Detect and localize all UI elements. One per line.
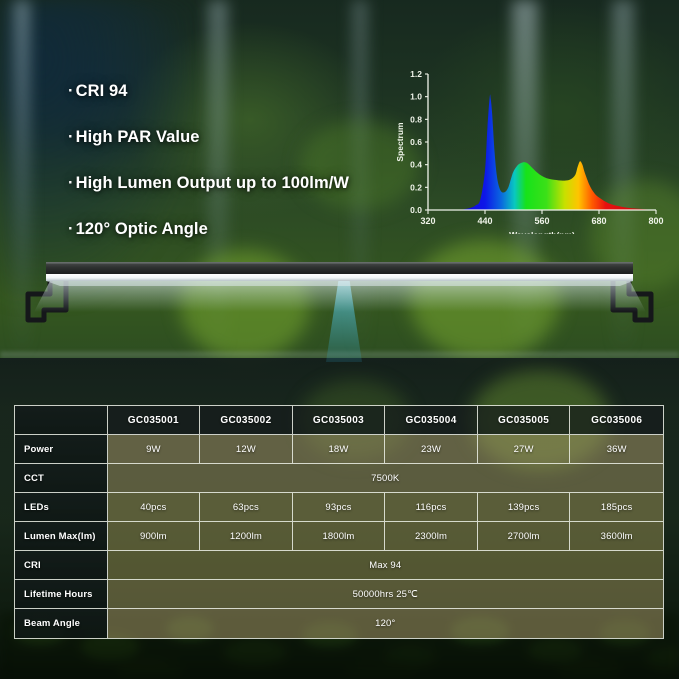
x-axis-title: Wavelength(nm) [509, 230, 575, 234]
spectrum-chart-svg: 0.00.20.40.60.81.01.2320440560680800Wave… [392, 62, 664, 234]
table-column-header: GC035005 [478, 406, 571, 435]
table-merged-cell: Max 94 [108, 551, 663, 580]
feature-bullet-text: High Lumen Output up to 100lm/W [76, 174, 350, 192]
table-cell: 27W [478, 435, 571, 464]
feature-bullet-item: ·CRI 94 [68, 82, 388, 101]
spectrum-chart: 0.00.20.40.60.81.01.2320440560680800Wave… [392, 62, 664, 234]
table-cell: 12W [200, 435, 293, 464]
table-merged-cell: 7500K [108, 464, 663, 493]
table-cell: 18W [293, 435, 386, 464]
table-column-header: GC035004 [385, 406, 478, 435]
table-row-label: LEDs [15, 493, 108, 522]
bullet-marker-icon: · [68, 82, 74, 100]
x-axis-tick-label: 320 [420, 216, 435, 226]
table-row-label: Power [15, 435, 108, 464]
table-cell: 1200lm [200, 522, 293, 551]
table-cell: 3600lm [570, 522, 663, 551]
y-axis-tick-label: 0.2 [410, 182, 422, 192]
x-axis-tick-label: 680 [591, 216, 606, 226]
spectrum-curve [428, 94, 656, 210]
product-infographic: ·CRI 94 ·High PAR Value ·High Lumen Outp… [0, 0, 679, 679]
bullet-marker-icon: · [68, 220, 74, 238]
y-axis-tick-label: 1.2 [410, 69, 422, 79]
table-row: CRIMax 94 [15, 551, 663, 580]
feature-bullet-item: ·120° Optic Angle [68, 220, 388, 239]
table-row: Beam Angle120° [15, 609, 663, 638]
feature-bullet-list: ·CRI 94 ·High PAR Value ·High Lumen Outp… [68, 82, 388, 266]
table-cell: 139pcs [478, 493, 571, 522]
table-cell: 2300lm [385, 522, 478, 551]
feature-bullet-item: ·High Lumen Output up to 100lm/W [68, 174, 388, 193]
table-column-header: GC035001 [108, 406, 201, 435]
x-axis-tick-label: 800 [648, 216, 663, 226]
table-row-label: Beam Angle [15, 609, 108, 638]
table-row: Power9W12W18W23W27W36W [15, 435, 663, 464]
fixture-diffuser [46, 274, 633, 281]
table-row: Lifetime Hours50000hrs 25℃ [15, 580, 663, 609]
y-axis-tick-label: 0.8 [410, 114, 422, 124]
table-header-row: GC035001GC035002GC035003GC035004GC035005… [15, 406, 663, 435]
table-merged-cell: 50000hrs 25℃ [108, 580, 663, 609]
table-cell: 36W [570, 435, 663, 464]
x-axis-tick-label: 560 [534, 216, 549, 226]
table-row: Lumen Max(lm)900lm1200lm1800lm2300lm2700… [15, 522, 663, 551]
x-axis-tick-label: 440 [477, 216, 492, 226]
feature-bullet-text: 120° Optic Angle [76, 220, 208, 238]
bullet-marker-icon: · [68, 174, 74, 192]
table-cell: 900lm [108, 522, 201, 551]
y-axis-tick-label: 1.0 [410, 92, 422, 102]
feature-bullet-text: High PAR Value [76, 128, 200, 146]
table-row-label: Lifetime Hours [15, 580, 108, 609]
specifications-table: GC035001GC035002GC035003GC035004GC035005… [14, 405, 664, 639]
table-column-header: GC035006 [570, 406, 663, 435]
y-axis-title: Spectrum [395, 122, 405, 162]
table-cell: 2700lm [478, 522, 571, 551]
table-row: LEDs40pcs63pcs93pcs116pcs139pcs185pcs [15, 493, 663, 522]
table-row-label: Lumen Max(lm) [15, 522, 108, 551]
feature-bullet-item: ·High PAR Value [68, 128, 388, 147]
bullet-marker-icon: · [68, 128, 74, 146]
y-axis-tick-label: 0.4 [410, 160, 422, 170]
y-axis-tick-label: 0.6 [410, 137, 422, 147]
fixture-glow [34, 281, 646, 312]
table-corner-cell [15, 406, 108, 435]
led-grow-light-fixture [0, 250, 679, 365]
table-cell: 9W [108, 435, 201, 464]
table-cell: 185pcs [570, 493, 663, 522]
table-column-header: GC035003 [293, 406, 386, 435]
table-cell: 116pcs [385, 493, 478, 522]
table-cell: 23W [385, 435, 478, 464]
table-column-header: GC035002 [200, 406, 293, 435]
table-cell: 1800lm [293, 522, 386, 551]
table-cell: 93pcs [293, 493, 386, 522]
table-row-label: CCT [15, 464, 108, 493]
table-row-label: CRI [15, 551, 108, 580]
spectrum-area [428, 94, 656, 210]
table-cell: 40pcs [108, 493, 201, 522]
table-cell: 63pcs [200, 493, 293, 522]
y-axis-tick-label: 0.0 [410, 205, 422, 215]
table-merged-cell: 120° [108, 609, 663, 638]
table-row: CCT7500K [15, 464, 663, 493]
feature-bullet-text: CRI 94 [76, 82, 128, 100]
